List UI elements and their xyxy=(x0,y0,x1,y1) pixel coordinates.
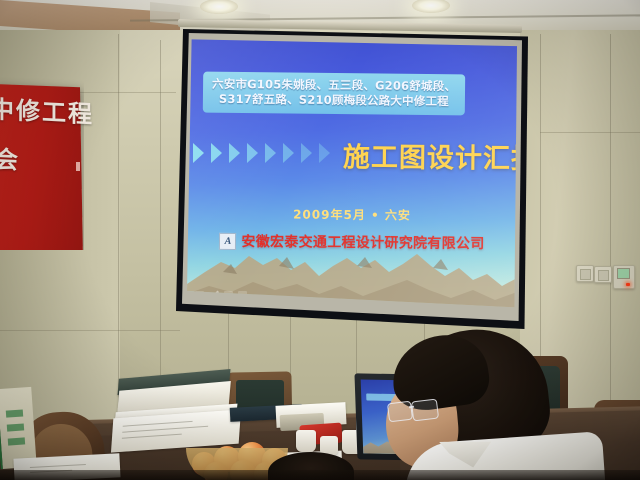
chevron-arrow-icon xyxy=(247,143,258,163)
wall-baseboard-line xyxy=(0,330,180,331)
wall-panel-seam xyxy=(118,34,119,432)
screenshot-root: 中修工程 会 六安市G105朱姚段、五三段、G206舒城段、 S317舒五路、S… xyxy=(0,0,640,480)
chevron-arrow-icon xyxy=(265,143,276,163)
document-text-line xyxy=(30,464,86,468)
slide-title-box: 六安市G105朱姚段、五三段、G206舒城段、 S317舒五路、S210顾梅段公… xyxy=(203,72,465,116)
light-switch-plate[interactable] xyxy=(594,266,612,283)
slide-title-line2: S317舒五路、S210顾梅段公路大中修工程 xyxy=(209,92,459,110)
slide-main-heading: 施工图设计汇报 xyxy=(343,135,517,176)
projected-slide: 六安市G105朱姚段、五三段、G206舒城段、 S317舒五路、S210顾梅段公… xyxy=(187,38,517,310)
document-text-line xyxy=(123,421,193,427)
wall-panel-seam xyxy=(160,40,161,432)
chevron-arrow-group xyxy=(193,141,353,167)
switch-rocker-icon[interactable] xyxy=(580,269,591,280)
foreground-shadow xyxy=(0,470,640,480)
eyeglasses-icon xyxy=(411,398,439,421)
bag-stripe xyxy=(7,423,24,431)
eyeglasses-icon xyxy=(387,401,413,423)
chevron-arrow-icon xyxy=(319,143,330,163)
banner-text-line2: 会 xyxy=(0,139,20,175)
document-text-line xyxy=(122,434,182,439)
thermostat-led-icon xyxy=(626,283,630,286)
bag-stripe xyxy=(6,409,23,417)
chevron-arrow-icon xyxy=(211,143,222,163)
chevron-arrow-icon xyxy=(283,143,294,163)
wall-panel-seam xyxy=(610,34,611,432)
slide-date-location: 2009年5月 • 六安 xyxy=(187,205,517,225)
ceramic-cup xyxy=(296,430,316,452)
chevron-arrow-icon xyxy=(229,143,240,163)
green-tote-bag xyxy=(0,387,37,469)
thermostat-panel[interactable] xyxy=(613,265,635,289)
document-text-line xyxy=(122,426,208,433)
thermostat-lcd-icon xyxy=(617,268,630,279)
bag-stripe xyxy=(8,437,25,445)
wall-panel-seam xyxy=(540,132,640,133)
banner-tag xyxy=(76,162,80,171)
light-switch-plate[interactable] xyxy=(576,265,594,282)
banner-text-line1: 中修工程 xyxy=(0,89,94,129)
chevron-arrow-icon xyxy=(193,143,204,163)
chevron-arrow-icon xyxy=(301,143,312,163)
switch-rocker-icon[interactable] xyxy=(598,270,609,281)
